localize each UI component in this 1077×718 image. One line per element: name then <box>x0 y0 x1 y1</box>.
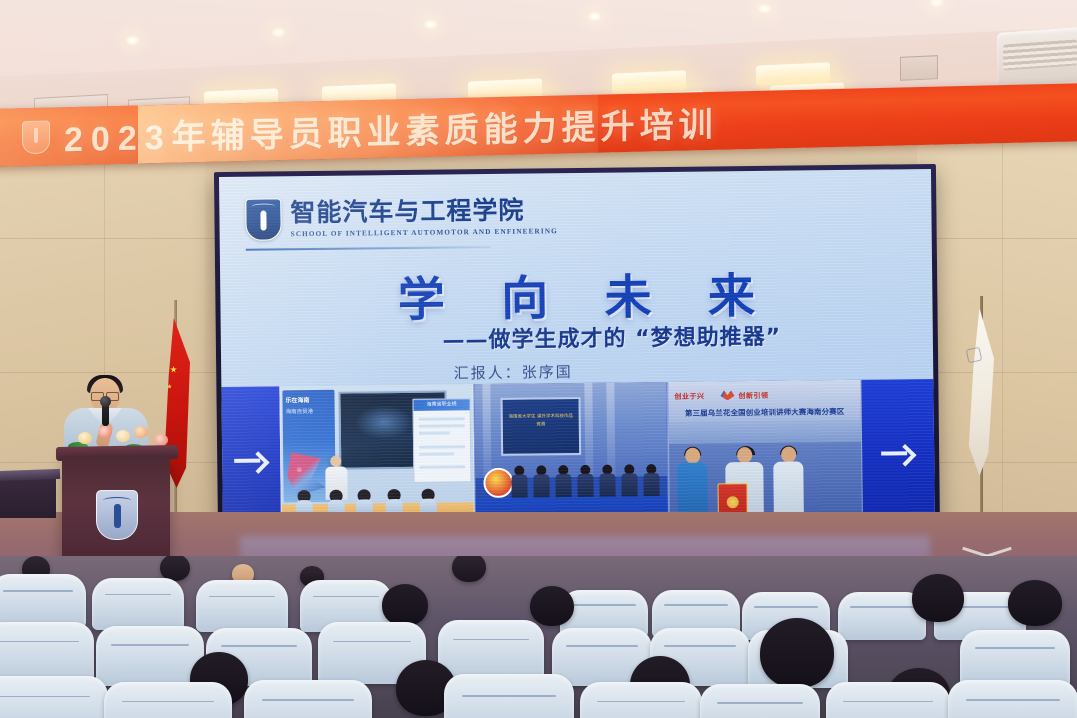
auditorium-seat <box>700 684 820 718</box>
auditorium-seat <box>948 680 1077 718</box>
flower <box>134 426 148 438</box>
auditorium-seat <box>0 676 108 718</box>
poster-subtitle: 海南自贸港 <box>286 408 314 417</box>
attendee-head <box>912 574 964 622</box>
classroom-side-panel: 海南省职业规 <box>413 398 472 483</box>
auditorium-seat <box>96 626 204 686</box>
auditorium-seat <box>0 622 94 684</box>
auditorium-seat <box>104 682 232 718</box>
ceiling-spotlight-icon <box>126 36 139 45</box>
person-head <box>685 448 700 464</box>
auditorium-seat <box>92 578 184 630</box>
participant-figure <box>643 464 659 498</box>
hall-screen-text: 海南省大学生 课外学术科技作品竞赛 <box>507 413 575 430</box>
photo-award: 创业于兴 创新引领 第三届乌兰花全国创业培训讲师大赛海南分赛区 <box>667 380 863 530</box>
participant-figure <box>511 466 527 500</box>
side-panel-row <box>419 417 465 420</box>
microphone-icon <box>102 402 109 426</box>
hall-column <box>482 384 491 478</box>
podium <box>62 456 170 568</box>
side-panel-row <box>419 445 465 448</box>
hall-column <box>584 383 593 477</box>
auditorium-seat <box>0 574 86 628</box>
flag-cloth <box>966 308 994 476</box>
ceiling-panel-light <box>756 62 830 85</box>
auditorium-seat <box>196 580 288 632</box>
participant-figure <box>533 465 549 499</box>
flower <box>78 432 92 444</box>
award-backdrop: 创业于兴 创新引领 第三届乌兰花全国创业培训讲师大赛海南分赛区 <box>668 380 861 444</box>
slide-institution-logo: 智能汽车与工程学院 SCHOOL OF INTELLIGENT AUTOMOTO… <box>245 195 558 241</box>
right-arrow-icon <box>234 451 268 471</box>
school-crest-icon <box>96 490 138 540</box>
competition-emblem-icon <box>483 468 513 498</box>
attendee-head <box>530 586 574 626</box>
person-head <box>737 447 752 463</box>
auditorium-seat <box>438 620 544 682</box>
slogan-left: 创业于兴 <box>674 392 704 402</box>
school-flag-white <box>958 296 1004 546</box>
attendee-head <box>1008 580 1062 626</box>
slogan-right: 创新引领 <box>738 391 768 401</box>
ceiling-spotlight-icon <box>272 28 285 37</box>
ceiling-spotlight-icon <box>588 12 601 21</box>
attendee-head <box>382 584 428 626</box>
award-logo-icon <box>720 389 734 400</box>
institution-name-en: SCHOOL OF INTELLIGENT AUTOMOTOR AND ENFI… <box>291 227 558 238</box>
arrow-panel-right <box>861 379 935 528</box>
ceiling-spotlight-icon <box>758 4 771 13</box>
attendee-head <box>760 618 834 688</box>
poster-title: 乐在海南 <box>285 395 309 404</box>
side-panel-title: 海南省职业规 <box>414 399 470 411</box>
attendee-head <box>452 556 486 582</box>
ceiling-vent <box>900 55 938 81</box>
side-table <box>0 476 56 518</box>
participant-figure <box>599 465 615 499</box>
auditorium-seat <box>826 682 950 718</box>
award-banner-title: 第三届乌兰花全国创业培训讲师大赛海南分赛区 <box>669 406 861 419</box>
institution-name-cn: 智能汽车与工程学院 <box>290 198 558 227</box>
photo-group-stage: 海南省大学生 课外学术科技作品竞赛 第十一届“挑战杯”海南省大学生课外学术科技作… <box>473 382 669 532</box>
air-conditioner-unit <box>997 27 1077 87</box>
auditorium-seat <box>244 680 372 718</box>
screen-glow <box>355 405 413 440</box>
ceiling-spotlight-icon <box>424 20 437 29</box>
hall-led-screen: 海南省大学生 课外学术科技作品竞赛 <box>501 397 582 456</box>
university-shield-logo-icon <box>245 198 281 240</box>
backdrop-strip <box>669 420 861 444</box>
led-presentation-screen: 智能汽车与工程学院 SCHOOL OF INTELLIGENT AUTOMOTO… <box>214 164 940 540</box>
auditorium-seat <box>444 674 574 718</box>
participant-figure <box>621 464 637 498</box>
auditorium-seat <box>580 682 702 718</box>
side-panel-row <box>419 452 454 455</box>
slide-surface: 智能汽车与工程学院 SCHOOL OF INTELLIGENT AUTOMOTO… <box>219 169 935 535</box>
lecturer-head <box>330 456 341 467</box>
side-panel-row <box>419 431 450 434</box>
flower <box>98 426 112 438</box>
ceiling-panel-light <box>612 70 686 93</box>
equipment-stand <box>962 520 1020 554</box>
hall-column <box>606 383 615 477</box>
side-panel-row <box>419 465 465 468</box>
logo-divider <box>246 246 491 250</box>
side-panel-row <box>419 424 465 427</box>
audience-area <box>0 556 1077 718</box>
slide-subtitle: ——做学生成才的 “梦想助推器” <box>221 317 933 357</box>
participant-figure <box>555 465 571 499</box>
flag-emblem-icon <box>966 347 983 364</box>
conference-hall-scene: 2023年辅导员职业素质能力提升培训 智能汽车与工程学院 SCHOOL OF I… <box>0 0 1077 718</box>
person-head <box>781 447 796 463</box>
participant-figure <box>577 465 593 499</box>
right-arrow-icon <box>881 443 915 463</box>
flower <box>116 430 130 442</box>
